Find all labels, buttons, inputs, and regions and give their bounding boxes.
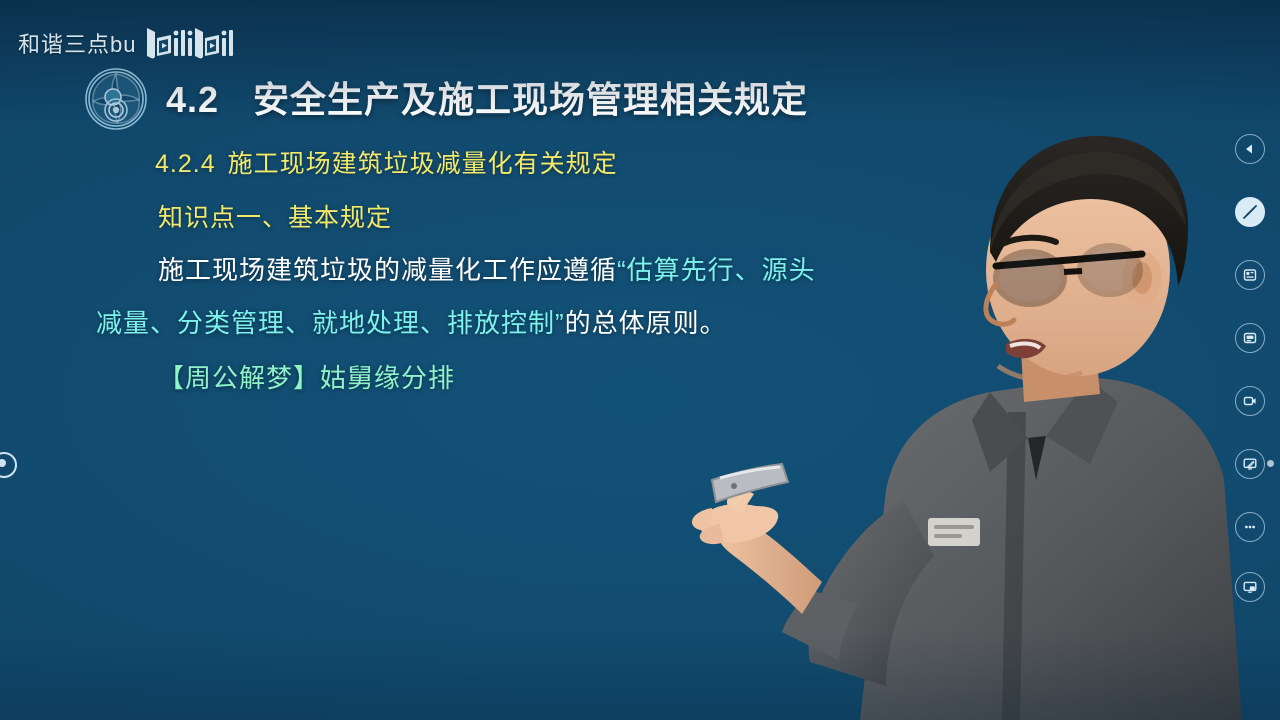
ellipsis-icon — [1242, 519, 1258, 535]
knowledge-point-heading: 知识点一、基本规定 — [158, 198, 392, 234]
subtitle-button[interactable] — [1235, 323, 1265, 353]
slide-body-line-2: 减量、分类管理、就地处理、排放控制”的总体原则。 — [96, 303, 727, 340]
slide-subtitle: 4.2.4施工现场建筑垃圾减量化有关规定 — [155, 144, 618, 180]
body-line-1-quote: “估算先行、源头 — [617, 255, 816, 285]
body-line-1-prefix: 施工现场建筑垃圾的减量化工作应遵循 — [158, 255, 617, 285]
danmaku-settings-button[interactable] — [1235, 260, 1265, 290]
slide-title-text: 安全生产及施工现场管理相关规定 — [253, 79, 808, 120]
video-camera-icon — [1242, 393, 1258, 409]
lecture-slide: 4.2安全生产及施工现场管理相关规定 4.2.4施工现场建筑垃圾减量化有关规定 … — [0, 0, 1280, 720]
monitor-pen-icon — [1242, 456, 1258, 472]
body-line-2-suffix: 的总体原则。 — [565, 308, 727, 338]
video-player-frame: 4.2安全生产及施工现场管理相关规定 4.2.4施工现场建筑垃圾减量化有关规定 … — [0, 0, 1280, 720]
uploader-watermark: 和谐三点bu — [18, 26, 237, 60]
uploader-name: 和谐三点bu — [18, 27, 136, 59]
slide-body-line-1: 施工现场建筑垃圾的减量化工作应遵循“估算先行、源头 — [158, 250, 816, 287]
pen-slash-icon — [1241, 203, 1259, 221]
picture-in-picture-button[interactable] — [1235, 572, 1265, 602]
danmaku-box-icon — [1242, 267, 1258, 283]
dream-note-line: 【周公解梦】姑舅缘分排 — [158, 358, 455, 395]
screen-mode-badge — [1267, 460, 1274, 467]
slide-subtitle-text: 施工现场建筑垃圾减量化有关规定 — [228, 150, 618, 178]
player-side-toolbar[interactable] — [1228, 134, 1272, 602]
bilibili-logo — [145, 26, 237, 60]
slide-title: 4.2安全生产及施工现场管理相关规定 — [166, 71, 808, 123]
danmaku-toggle-button[interactable] — [1235, 197, 1265, 227]
slide-title-number: 4.2 — [166, 79, 219, 120]
more-options-button[interactable] — [1235, 512, 1265, 542]
body-line-2-quote: 减量、分类管理、就地处理、排放控制” — [96, 308, 565, 338]
slide-subtitle-number: 4.2.4 — [155, 150, 216, 178]
pip-monitor-icon — [1242, 579, 1258, 595]
spiral-emblem-icon — [83, 66, 149, 132]
subtitle-panel-icon — [1242, 330, 1258, 346]
collapse-panel-button[interactable] — [1235, 134, 1265, 164]
record-clip-button[interactable] — [1235, 386, 1265, 416]
chevron-left-circle-icon — [1242, 141, 1258, 157]
screen-mode-button[interactable] — [1235, 449, 1265, 479]
